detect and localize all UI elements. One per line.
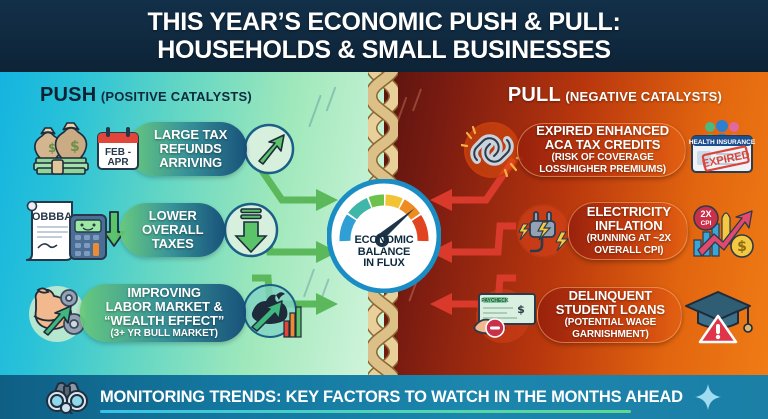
pull-item-3-pill[interactable]: DELINQUENT STUDENT LOANS (POTENTIAL WAGE… (537, 287, 682, 343)
calculator-icon (68, 213, 108, 261)
sparkle-icon (695, 384, 721, 410)
push-item-2-label: LOWER OVERALL TAXES (136, 209, 209, 251)
infographic-root: THIS YEAR’S ECONOMIC PUSH & PULL: HOUSEH… (0, 0, 768, 419)
pull-title: PULL (508, 84, 561, 106)
up-arrow-icon (243, 123, 295, 175)
health-insurance-card-icon: HEALTH INSURANCE EXPIRED (688, 120, 756, 176)
gauge-label: ECONOMIC BALANCE IN FLUX (327, 235, 441, 270)
pull-column-heading: PULL (NEGATIVE CATALYSTS) (508, 84, 722, 107)
calendar-feb-apr-icon: FEB - APR (94, 125, 142, 173)
pull-item-1-pill[interactable]: EXPIRED ENHANCED ACA TAX CREDITS (RISK O… (517, 123, 686, 177)
push-item-3-pill[interactable]: IMPROVING LABOR MARKET & “WEALTH EFFECT”… (80, 284, 246, 342)
pull-item-2-label: ELECTRICITY INFLATION (RUNNING AT ~2X OV… (581, 205, 677, 257)
cpi-badge-bottom: CPI (701, 220, 712, 227)
page-title-line-1: THIS YEAR’S ECONOMIC PUSH & PULL: (147, 8, 620, 36)
paycheck-label: PAYCHECK (481, 298, 509, 304)
svg-text:$: $ (737, 239, 747, 255)
pull-item-3[interactable]: PAYCHECK $ DELINQUENT STUDENT LOANS (POT… (473, 286, 754, 344)
footer-text: MONITORING TRENDS: KEY FACTORS TO WATCH … (100, 388, 683, 407)
page-title-line-2: HOUSEHOLDS & SMALL BUSINESSES (157, 36, 610, 64)
economic-balance-gauge: ECONOMIC BALANCE IN FLUX (327, 179, 441, 293)
insurance-card-title: HEALTH INSURANCE (689, 139, 756, 146)
svg-text:$: $ (517, 303, 525, 316)
pull-item-2[interactable]: ELECTRICITY INFLATION (RUNNING AT ~2X OV… (514, 202, 756, 260)
cpi-badge-top: 2X (700, 209, 711, 219)
push-item-2-pill[interactable]: LOWER OVERALL TAXES (120, 203, 225, 257)
push-item-1[interactable]: $ $ FEB - APR LARGE TAX REFUNDS (28, 120, 295, 178)
push-item-1-label: LARGE TAX REFUNDS ARRIVING (148, 128, 233, 170)
pull-subtitle: (NEGATIVE CATALYSTS) (565, 89, 722, 104)
obbba-label: OBBBA (32, 211, 72, 223)
paycheck-icon: PAYCHECK $ (473, 286, 545, 344)
calendar-bottom-label: APR (107, 157, 129, 168)
content-stage: PUSH (POSITIVE CATALYSTS) PULL (NEGATIVE… (0, 72, 768, 375)
pull-item-3-label: DELINQUENT STUDENT LOANS (POTENTIAL WAGE… (550, 289, 671, 341)
pull-item-1[interactable]: EXPIRED ENHANCED ACA TAX CREDITS (RISK O… (461, 120, 756, 180)
rising-chart-icon: 2X CPI $ (690, 202, 756, 260)
bull-market-icon (240, 283, 306, 343)
push-item-1-pill[interactable]: LARGE TAX REFUNDS ARRIVING (128, 122, 247, 176)
down-arrow-icon (223, 202, 279, 258)
pull-item-1-label: EXPIRED ENHANCED ACA TAX CREDITS (RISK O… (530, 124, 675, 176)
money-bags-icon: $ $ (28, 120, 102, 178)
electric-plug-icon (514, 202, 574, 260)
footer-banner: MONITORING TRENDS: KEY FACTORS TO WATCH … (0, 375, 768, 419)
push-item-3-label: IMPROVING LABOR MARKET & “WEALTH EFFECT”… (98, 286, 230, 340)
header-banner: THIS YEAR’S ECONOMIC PUSH & PULL: HOUSEH… (0, 0, 768, 72)
push-item-2[interactable]: OBBBA (22, 198, 279, 262)
svg-text:$: $ (48, 141, 56, 155)
push-title: PUSH (40, 84, 96, 106)
binoculars-icon (46, 380, 88, 414)
push-subtitle: (POSITIVE CATALYSTS) (101, 89, 252, 104)
push-column-heading: PUSH (POSITIVE CATALYSTS) (40, 84, 252, 107)
graduation-cap-icon (684, 286, 754, 344)
broken-chain-icon (461, 120, 523, 180)
pull-item-2-pill[interactable]: ELECTRICITY INFLATION (RUNNING AT ~2X OV… (568, 202, 688, 260)
svg-text:$: $ (70, 139, 80, 155)
push-item-3[interactable]: IMPROVING LABOR MARKET & “WEALTH EFFECT”… (24, 282, 306, 344)
